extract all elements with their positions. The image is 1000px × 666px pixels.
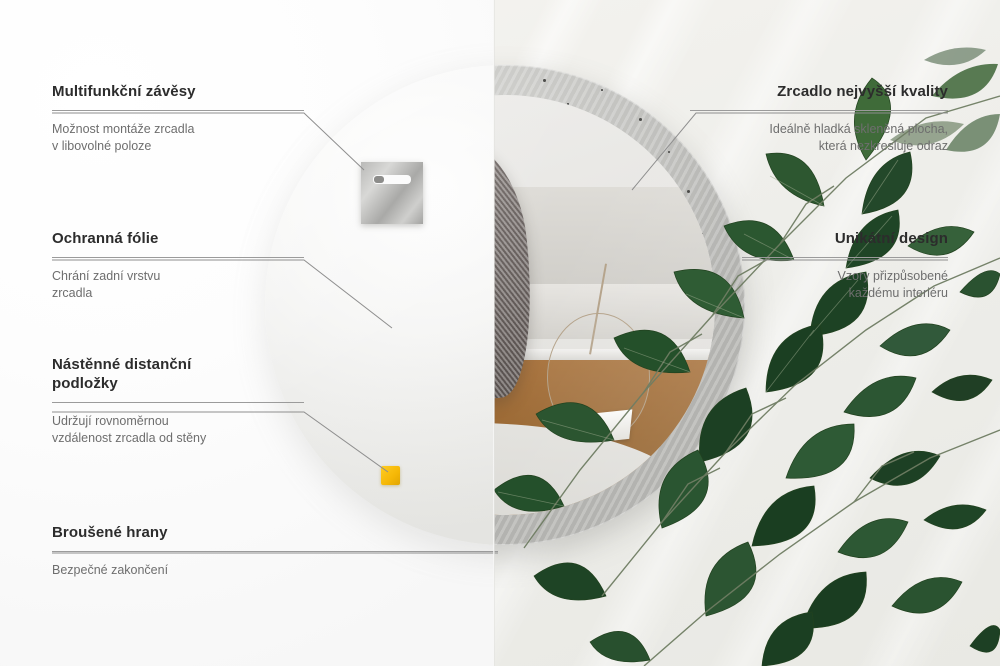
callout-description: Vzory přizpůsobené každému interiéru <box>742 268 948 302</box>
callout-divider <box>52 551 498 552</box>
callout-description: Bezpečné zakončení <box>52 562 452 579</box>
callout-title: Ochranná fólie <box>52 229 304 248</box>
callout-divider <box>52 402 304 403</box>
product-feature-diagram: Multifunkční závěsy Možnost montáže zrca… <box>0 0 1000 666</box>
callout-ochranna-folie: Ochranná fólie Chrání zadní vrstvu zrcad… <box>52 229 304 302</box>
callout-title: Unikátní design <box>742 229 948 248</box>
callout-title: Broušené hrany <box>52 523 452 542</box>
callout-nastenne-distancni-podlozky: Nástěnné distanční podložky Udržují rovn… <box>52 355 304 447</box>
callout-unikatni-design: Unikátní design Vzory přizpůsobené každé… <box>742 229 948 302</box>
hanger-keyhole-slot <box>373 175 411 184</box>
callout-description: Chrání zadní vrstvu zrcadla <box>52 268 304 302</box>
callout-brousene-hrany: Broušené hrany Bezpečné zakončení <box>52 523 452 579</box>
panel-split-line <box>493 0 495 666</box>
callout-title: Multifunkční závěsy <box>52 82 304 101</box>
callout-multifunkcni-zavesy: Multifunkční závěsy Možnost montáže zrca… <box>52 82 304 155</box>
callout-divider <box>690 110 948 111</box>
callout-divider <box>742 257 948 258</box>
callout-title: Zrcadlo nejvyšší kvality <box>690 82 948 101</box>
callout-divider <box>52 257 304 258</box>
callout-title: Nástěnné distanční podložky <box>52 355 304 393</box>
wall-hanger-bracket <box>361 162 423 224</box>
callout-divider <box>52 110 304 111</box>
callout-description: Udržují rovnoměrnou vzdálenost zrcadla o… <box>52 413 304 447</box>
callout-description: Možnost montáže zrcadla v libovolné polo… <box>52 121 304 155</box>
callout-description: Ideálně hladká skleněná plocha, která ne… <box>690 121 948 155</box>
callout-zrcadlo-nejvyssi-kvality: Zrcadlo nejvyšší kvality Ideálně hladká … <box>690 82 948 155</box>
distance-pad <box>381 466 400 485</box>
